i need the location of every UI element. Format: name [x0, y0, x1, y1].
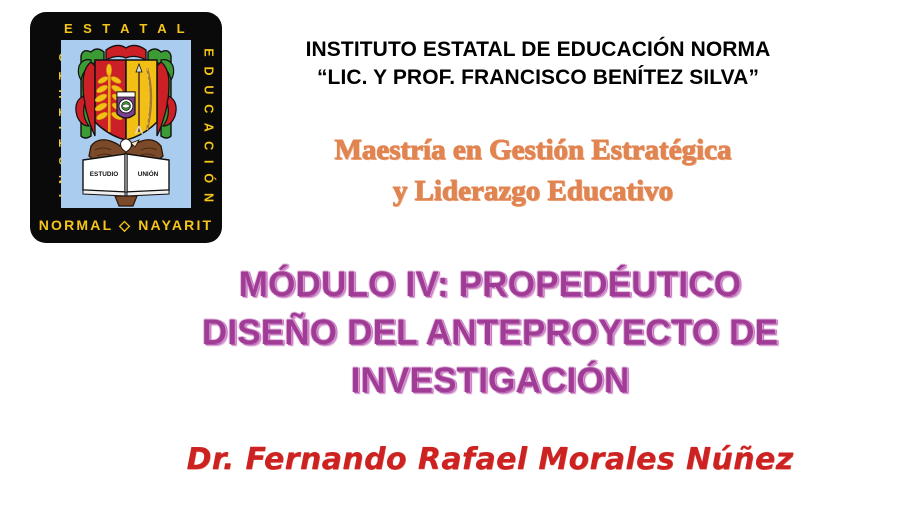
presentation-slide: E S T A T A L I N S T I T U T O E D U C … — [0, 0, 921, 518]
svg-text:ESTUDIO: ESTUDIO — [90, 171, 118, 178]
program-title: Maestría en Gestión Estratégica y Lidera… — [228, 130, 838, 212]
seal-bottom-label: NORMAL ◇ NAYARIT — [30, 218, 222, 232]
institution-header-line2: “LIC. Y PROF. FRANCISCO BENÍTEZ SILVA” — [238, 64, 838, 92]
institution-seal-logo: E S T A T A L I N S T I T U T O E D U C … — [30, 12, 222, 243]
institution-header-line1: INSTITUTO ESTATAL DE EDUCACIÓN NORMA — [238, 36, 838, 64]
seal-right-label: E D U C A C I Ó N — [202, 48, 215, 198]
program-title-line2: y Liderazgo Educativo — [228, 171, 838, 212]
module-title-line3: INVESTIGACIÓN — [110, 357, 870, 405]
presenter-name: Dr. Fernando Rafael Morales Núñez — [120, 443, 860, 476]
module-title-line1: MÓDULO IV: PROPEDÉUTICO — [110, 261, 870, 309]
program-title-line1: Maestría en Gestión Estratégica — [228, 130, 838, 171]
module-title-line2: DISEÑO DEL ANTEPROYECTO DE — [110, 309, 870, 357]
nayarit-coat-of-arms-icon: ESTUDIO UNIÓN — [61, 40, 191, 208]
seal-top-label: E S T A T A L — [30, 22, 222, 35]
module-title: MÓDULO IV: PROPEDÉUTICO DISEÑO DEL ANTEP… — [110, 261, 870, 405]
institution-header: INSTITUTO ESTATAL DE EDUCACIÓN NORMA “LI… — [238, 36, 838, 92]
svg-text:UNIÓN: UNIÓN — [138, 169, 159, 178]
